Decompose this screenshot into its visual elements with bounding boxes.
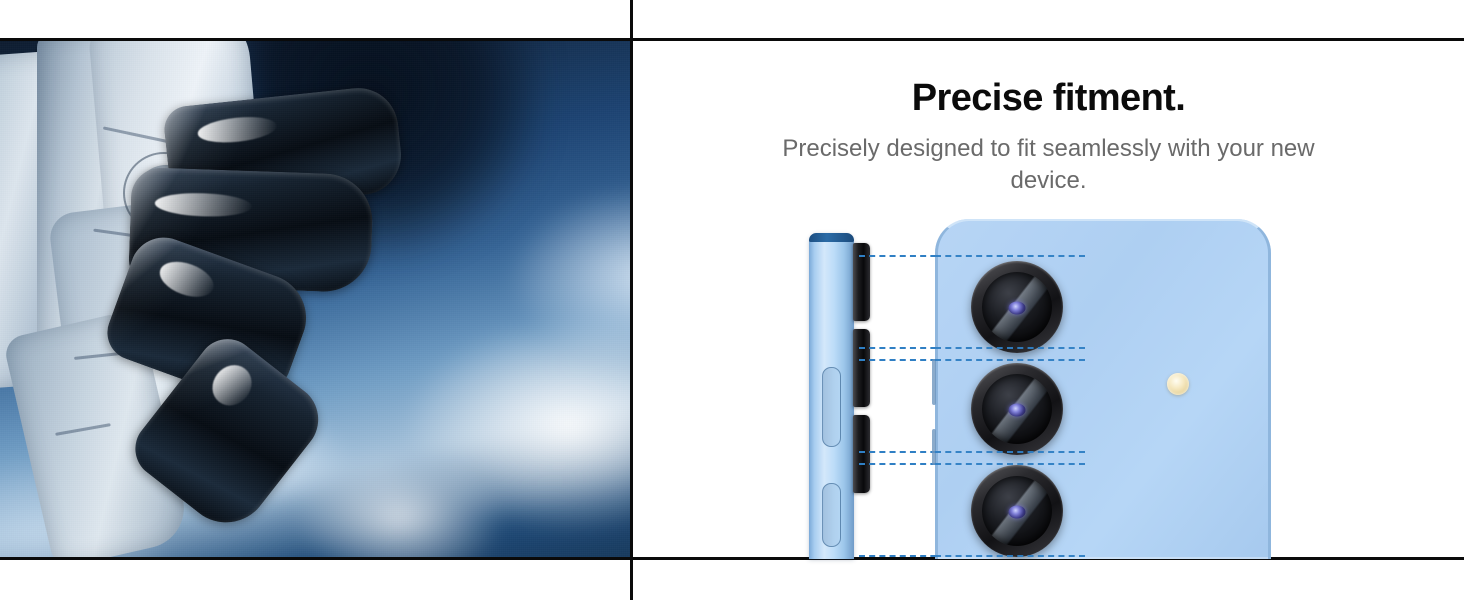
- astronaut-glove-photo: Close-up of a white spacesuit glove with…: [0, 41, 630, 557]
- phone-side-profile: [809, 233, 854, 559]
- alignment-guide-overlay-1: [935, 255, 1085, 257]
- finger-highlight: [205, 358, 259, 413]
- page-subtitle: Precisely designed to fit seamlessly wit…: [779, 133, 1319, 196]
- page-title: Precise fitment.: [633, 77, 1464, 120]
- alignment-guide-overlay-5: [935, 463, 1085, 465]
- lens-reflection: [1009, 302, 1026, 315]
- alignment-guide-overlay-3: [935, 359, 1085, 361]
- promo-banner: Close-up of a white spacesuit glove with…: [0, 0, 1464, 600]
- phone-top-cap: [809, 233, 854, 242]
- alignment-guide-overlay-2: [935, 347, 1085, 349]
- volume-button: [822, 367, 841, 447]
- fitment-panel: Precise fitment. Precisely designed to f…: [633, 41, 1464, 557]
- spacesuit-glove: [0, 41, 428, 557]
- finger-highlight: [155, 191, 253, 218]
- lens-bump-profile-3: [853, 415, 870, 493]
- lens-glass: [982, 476, 1052, 546]
- phone-back-view: [935, 219, 1271, 559]
- lens-reflection: [1009, 404, 1026, 417]
- led-flash: [1167, 373, 1189, 395]
- lens-glass: [982, 374, 1052, 444]
- power-button: [822, 483, 841, 547]
- phone-back-power-button: [932, 429, 936, 465]
- camera-lens-wide: [971, 261, 1063, 353]
- phone-fitment-diagram: [809, 219, 1459, 559]
- finger-highlight: [197, 113, 278, 145]
- lens-reflection: [1009, 506, 1026, 519]
- alignment-guide-overlay-4: [935, 451, 1085, 453]
- finger-highlight: [155, 256, 218, 304]
- alignment-guide-overlay-6: [935, 555, 1085, 557]
- lens-bump-profile-2: [853, 329, 870, 407]
- camera-lens-ultrawide: [971, 363, 1063, 455]
- lens-glass: [982, 272, 1052, 342]
- phone-back-volume-button: [932, 359, 936, 405]
- camera-lens-telephoto: [971, 465, 1063, 557]
